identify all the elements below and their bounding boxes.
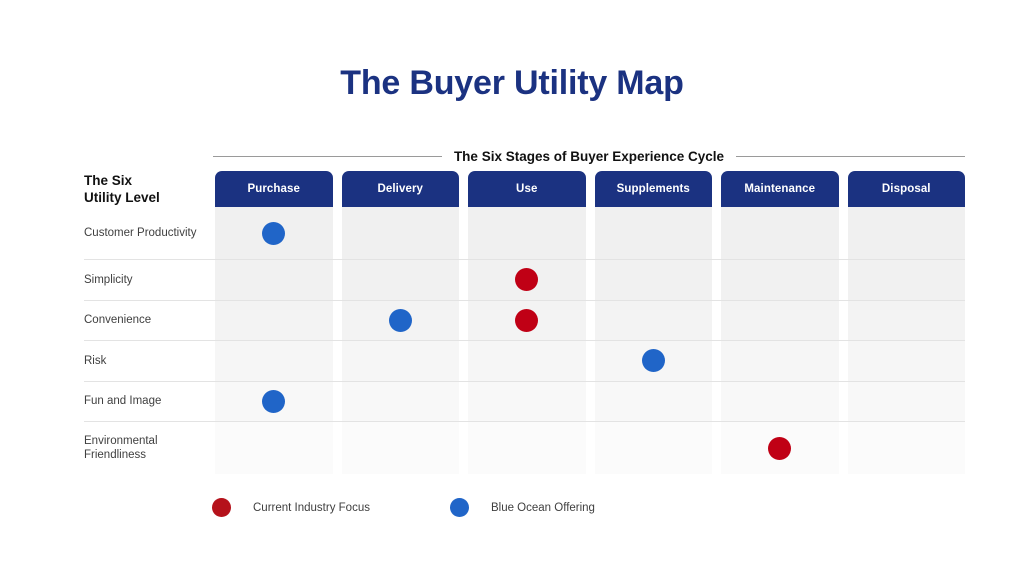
caption-rule-right <box>736 156 965 157</box>
matrix-row: Risk <box>84 340 965 381</box>
legend: Current Industry FocusBlue Ocean Offerin… <box>212 498 595 517</box>
matrix-cell[interactable] <box>721 382 839 422</box>
column-header-label: Purchase <box>247 183 300 195</box>
matrix-cell[interactable] <box>848 422 966 474</box>
row-label-text: Risk <box>84 354 106 368</box>
matrix-cell[interactable] <box>721 207 839 259</box>
legend-blue-dot-icon <box>450 498 469 517</box>
matrix-row: Customer Productivity <box>84 207 965 259</box>
column-header-label: Delivery <box>377 183 423 195</box>
matrix-cell[interactable] <box>595 260 713 300</box>
legend-label: Blue Ocean Offering <box>491 502 595 514</box>
matrix-cell[interactable] <box>721 422 839 474</box>
page-title: The Buyer Utility Map <box>0 64 1024 103</box>
matrix-cell[interactable] <box>595 341 713 381</box>
legend-item-blue: Blue Ocean Offering <box>450 498 595 517</box>
blue-ocean-offering-dot[interactable] <box>389 309 412 332</box>
matrix-row-cells <box>215 301 965 341</box>
stages-caption: The Six Stages of Buyer Experience Cycle <box>454 149 724 164</box>
column-header-row: PurchaseDeliveryUseSupplementsMaintenanc… <box>215 171 965 207</box>
legend-item-red: Current Industry Focus <box>212 498 370 517</box>
matrix-cell[interactable] <box>468 422 586 474</box>
matrix-row-cells <box>215 422 965 474</box>
row-label-convenience: Convenience <box>84 301 215 341</box>
column-header-maintenance[interactable]: Maintenance <box>721 171 839 207</box>
column-header-disposal[interactable]: Disposal <box>848 171 966 207</box>
caption-rule-left <box>213 156 442 157</box>
blue-ocean-offering-dot[interactable] <box>262 222 285 245</box>
legend-label: Current Industry Focus <box>253 502 370 514</box>
matrix-row: Fun and Image <box>84 381 965 422</box>
matrix-cell[interactable] <box>595 301 713 341</box>
stages-caption-band: The Six Stages of Buyer Experience Cycle <box>213 146 965 166</box>
matrix-cell[interactable] <box>848 207 966 259</box>
row-label-customer-productivity: Customer Productivity <box>84 207 215 259</box>
matrix-cell[interactable] <box>342 341 460 381</box>
column-header-label: Use <box>516 183 537 195</box>
legend-red-dot-icon <box>212 498 231 517</box>
column-header-use[interactable]: Use <box>468 171 586 207</box>
column-header-label: Disposal <box>882 183 931 195</box>
row-label-simplicity: Simplicity <box>84 260 215 300</box>
matrix-row: Convenience <box>84 300 965 341</box>
matrix-cell[interactable] <box>342 301 460 341</box>
matrix-cell[interactable] <box>215 422 333 474</box>
matrix-cell[interactable] <box>215 382 333 422</box>
row-label-text: Convenience <box>84 313 151 327</box>
row-label-text: Simplicity <box>84 273 133 287</box>
row-label-fun-and-image: Fun and Image <box>84 382 215 422</box>
matrix-cell[interactable] <box>342 207 460 259</box>
matrix-cell[interactable] <box>215 207 333 259</box>
row-label-text: Fun and Image <box>84 394 161 408</box>
matrix-cell[interactable] <box>215 341 333 381</box>
matrix-cell[interactable] <box>468 260 586 300</box>
matrix-cell[interactable] <box>848 301 966 341</box>
matrix-row-cells <box>215 341 965 381</box>
matrix-cell[interactable] <box>595 422 713 474</box>
matrix-cell[interactable] <box>342 260 460 300</box>
matrix-cell[interactable] <box>215 301 333 341</box>
matrix-row: Environmental Friendliness <box>84 421 965 474</box>
matrix-cell[interactable] <box>848 341 966 381</box>
matrix-cell[interactable] <box>721 260 839 300</box>
matrix-cell[interactable] <box>595 382 713 422</box>
current-industry-focus-dot[interactable] <box>515 309 538 332</box>
matrix-row-cells <box>215 382 965 422</box>
column-header-label: Supplements <box>617 183 690 195</box>
matrix-cell[interactable] <box>468 341 586 381</box>
blue-ocean-offering-dot[interactable] <box>262 390 285 413</box>
matrix-cell[interactable] <box>468 207 586 259</box>
matrix-body: Customer ProductivitySimplicityConvenien… <box>84 207 965 487</box>
blue-ocean-offering-dot[interactable] <box>642 349 665 372</box>
row-label-text: Customer Productivity <box>84 226 196 240</box>
matrix-cell[interactable] <box>468 301 586 341</box>
matrix-row-cells <box>215 207 965 259</box>
matrix-cell[interactable] <box>595 207 713 259</box>
matrix-cell[interactable] <box>721 301 839 341</box>
matrix-row: Simplicity <box>84 259 965 300</box>
column-header-delivery[interactable]: Delivery <box>342 171 460 207</box>
matrix-cell[interactable] <box>215 260 333 300</box>
column-header-purchase[interactable]: Purchase <box>215 171 333 207</box>
matrix-row-cells <box>215 260 965 300</box>
matrix-cell[interactable] <box>342 382 460 422</box>
matrix-cell[interactable] <box>848 382 966 422</box>
matrix-cell[interactable] <box>468 382 586 422</box>
matrix-cell[interactable] <box>721 341 839 381</box>
column-header-label: Maintenance <box>744 183 815 195</box>
row-label-environmental-friendliness: Environmental Friendliness <box>84 422 215 474</box>
row-label-text: Environmental Friendliness <box>84 434 209 463</box>
current-industry-focus-dot[interactable] <box>768 437 791 460</box>
current-industry-focus-dot[interactable] <box>515 268 538 291</box>
buyer-utility-matrix: PurchaseDeliveryUseSupplementsMaintenanc… <box>84 171 965 487</box>
matrix-cell[interactable] <box>848 260 966 300</box>
column-header-supplements[interactable]: Supplements <box>595 171 713 207</box>
matrix-cell[interactable] <box>342 422 460 474</box>
row-label-risk: Risk <box>84 341 215 381</box>
